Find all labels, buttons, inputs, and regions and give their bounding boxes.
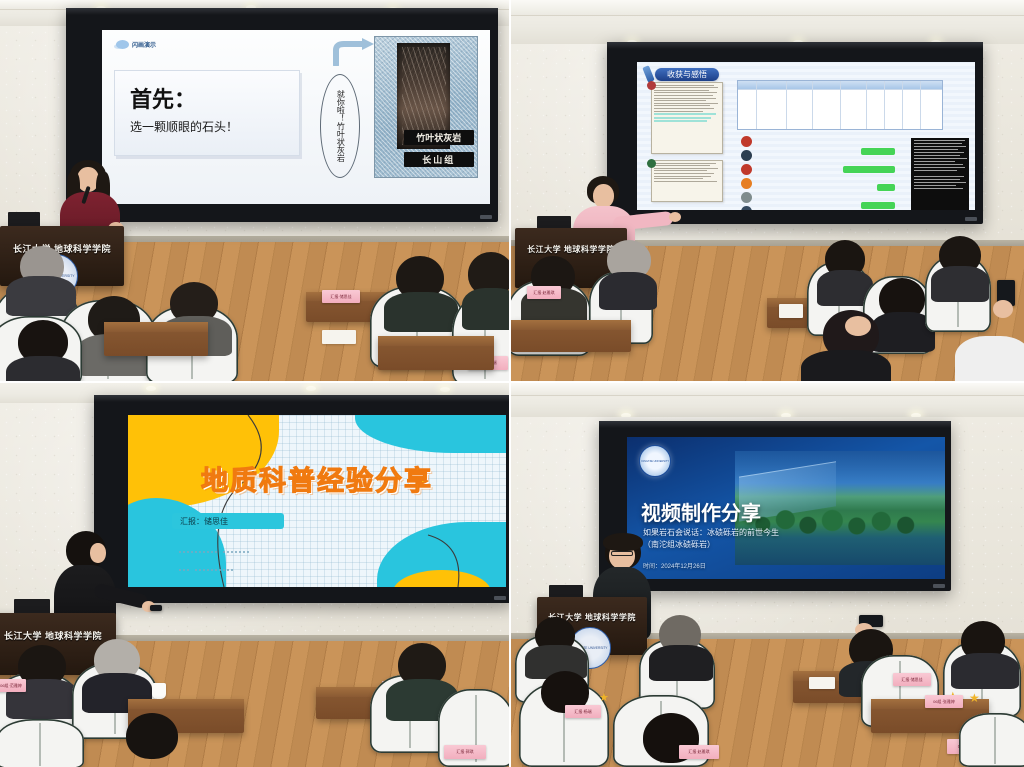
name-placard: 汇报·杨瑞 bbox=[565, 705, 601, 718]
audience-member bbox=[82, 639, 152, 703]
audience-member bbox=[462, 252, 511, 322]
slide-heading: 首先： bbox=[130, 82, 196, 114]
audience-member bbox=[525, 617, 587, 673]
lecture-room-2: 收获与感悟 bbox=[511, 0, 1024, 381]
slide-title: 地质科普经验分享 bbox=[128, 459, 506, 498]
desk bbox=[378, 336, 494, 370]
audience-member bbox=[6, 645, 80, 711]
doc-screenshot-bottom bbox=[651, 160, 723, 202]
star-trophy-icon: ★ bbox=[969, 691, 980, 705]
downlight-icon bbox=[306, 386, 316, 391]
face bbox=[90, 543, 106, 563]
slide-date: 时间：2024年12月26日 bbox=[643, 561, 706, 570]
audience-member bbox=[951, 621, 1019, 681]
hand-on-head bbox=[845, 316, 871, 336]
display-bezel-top bbox=[66, 8, 498, 15]
name-placard: 06组·张雅婷 bbox=[925, 695, 963, 708]
rock-label-primary: 竹叶状灰岩 bbox=[404, 130, 474, 145]
audience-member bbox=[649, 615, 713, 675]
name-placard: 汇报·储思佳 bbox=[893, 673, 931, 686]
projection-display-1: 闪画演示 首先： 选一颗顺眼的石头！ 就你啦！竹叶状灰岩 bbox=[66, 8, 498, 222]
clicker bbox=[150, 605, 162, 611]
slide-callout-text: 就你啦！竹叶状灰岩 bbox=[336, 90, 345, 162]
reporter-label: 汇报：储思佳 bbox=[172, 513, 284, 529]
desk bbox=[511, 320, 631, 352]
slide-title: 收获与感悟 bbox=[655, 68, 719, 81]
desk-top bbox=[378, 336, 494, 346]
display-bezel-top bbox=[607, 42, 983, 49]
torso bbox=[649, 645, 713, 681]
rock-photo: 竹叶状灰岩 长山组 bbox=[374, 36, 478, 178]
slide-subtitle-line2: （南沱组冰碛砾岩） bbox=[643, 539, 715, 550]
slide-screen-1: 闪画演示 首先： 选一颗顺眼的石头！ 就你啦！竹叶状灰岩 bbox=[102, 30, 490, 204]
slide-subtitle-line1: 如果岩石会说话：冰碛砾岩的前世今生 bbox=[643, 527, 779, 538]
display-brand-icon bbox=[965, 217, 977, 221]
panel-4-presenter-video-slide: YANGTZE UNIVERSITY 视频制作分享 如果岩石会说话：冰碛砾岩的前… bbox=[511, 383, 1024, 767]
name-placard: 汇报·郭琪 bbox=[444, 745, 486, 759]
slide-1: 闪画演示 首先： 选一颗顺眼的石头！ 就你啦！竹叶状灰岩 bbox=[102, 30, 490, 204]
downlight-icon bbox=[146, 386, 156, 391]
slide-logo: 闪画演示 bbox=[116, 40, 156, 49]
desk-top bbox=[128, 699, 244, 709]
torso bbox=[6, 276, 76, 316]
desk-top bbox=[104, 322, 208, 332]
slide-screen-4: YANGTZE UNIVERSITY 视频制作分享 如果岩石会说话：冰碛砾岩的前… bbox=[627, 437, 945, 579]
projection-display-2: 收获与感悟 bbox=[607, 42, 983, 224]
audience-member bbox=[817, 240, 873, 298]
slide-callout-oval: 就你啦！竹叶状灰岩 bbox=[320, 74, 360, 178]
display-brand-icon bbox=[933, 584, 945, 588]
doc-screenshot-top bbox=[651, 82, 723, 154]
torso bbox=[955, 336, 1024, 383]
face bbox=[593, 184, 614, 208]
chair bbox=[0, 719, 84, 767]
slide-title-group: 收获与感悟 bbox=[645, 66, 719, 82]
slide-4: YANGTZE UNIVERSITY 视频制作分享 如果岩石会说话：冰碛砾岩的前… bbox=[627, 437, 945, 579]
rock-label-formation: 长山组 bbox=[404, 152, 474, 167]
display-brand-icon bbox=[480, 215, 492, 219]
avatar bbox=[647, 159, 656, 168]
audience-member bbox=[531, 671, 603, 735]
slide-title: 视频制作分享 bbox=[641, 497, 761, 526]
avatar bbox=[741, 192, 752, 203]
name-placard: 06组·范雅婷 bbox=[0, 679, 26, 692]
desk-top bbox=[511, 320, 631, 330]
decor-dots bbox=[178, 541, 254, 577]
panel-1-presenter-rock-slide: 闪画演示 首先： 选一颗顺眼的石头！ 就你啦！竹叶状灰岩 bbox=[0, 0, 511, 383]
hair bbox=[603, 533, 643, 551]
audience-member-front bbox=[112, 713, 192, 767]
torso bbox=[801, 350, 891, 383]
torso bbox=[462, 288, 511, 330]
chair bbox=[959, 713, 1024, 767]
ceiling-strip-2 bbox=[511, 0, 1024, 16]
scenery-photo bbox=[735, 451, 945, 565]
audience-member bbox=[384, 256, 458, 326]
audience-member bbox=[6, 320, 80, 383]
torso bbox=[951, 653, 1019, 689]
slide-screen-3: 地质科普经验分享 汇报：储思佳 bbox=[128, 415, 506, 587]
torso bbox=[6, 356, 80, 383]
paper bbox=[779, 304, 803, 318]
star-trophy-icon: ★ bbox=[599, 691, 609, 704]
avatar bbox=[741, 178, 752, 189]
paper bbox=[809, 677, 835, 689]
avatar bbox=[647, 81, 656, 90]
chat-bubble bbox=[843, 166, 895, 173]
cloud-icon bbox=[116, 40, 129, 49]
avatar bbox=[741, 136, 752, 147]
chat-bubble bbox=[861, 202, 895, 209]
chat-bubble bbox=[877, 184, 895, 191]
downlight-icon bbox=[440, 387, 450, 392]
arrow-icon bbox=[332, 38, 376, 66]
paper bbox=[322, 330, 356, 344]
name-placard: 汇报·赵雅琪 bbox=[679, 745, 719, 759]
audience-member bbox=[599, 240, 657, 302]
audience-member bbox=[931, 236, 989, 296]
torso bbox=[931, 266, 989, 302]
lecture-room-4: YANGTZE UNIVERSITY 视频制作分享 如果岩石会说话：冰碛砾岩的前… bbox=[511, 383, 1024, 767]
avatar bbox=[741, 164, 752, 175]
avatar bbox=[741, 150, 752, 161]
audience-member-front bbox=[955, 316, 1024, 383]
panel-3-presenter-title-slide: 地质科普经验分享 汇报：储思佳 bbox=[0, 383, 511, 767]
slide-2: 收获与感悟 bbox=[637, 62, 975, 210]
desk bbox=[104, 322, 208, 356]
audience-member bbox=[6, 246, 76, 310]
lecture-room-1: 闪画演示 首先： 选一颗顺眼的石头！ 就你啦！竹叶状灰岩 bbox=[0, 0, 509, 381]
slide-screen-2: 收获与感悟 bbox=[637, 62, 975, 210]
lecture-room-3: 地质科普经验分享 汇报：储思佳 bbox=[0, 383, 509, 767]
chat-bubble bbox=[861, 148, 895, 155]
slide-subheading: 选一颗顺眼的石头！ bbox=[130, 118, 238, 135]
avatar bbox=[741, 206, 752, 210]
torso bbox=[599, 272, 657, 310]
display-bezel-top bbox=[94, 395, 511, 402]
panel-2-presenter-summary-slide: 收获与感悟 bbox=[511, 0, 1024, 383]
display-brand-icon bbox=[494, 596, 506, 600]
summary-table bbox=[737, 80, 943, 130]
projection-display-4: YANGTZE UNIVERSITY 视频制作分享 如果岩石会说话：冰碛砾岩的前… bbox=[599, 421, 951, 591]
hand bbox=[669, 212, 681, 222]
name-placard: 汇报·储思佳 bbox=[322, 290, 360, 303]
ceiling-strip-4 bbox=[511, 383, 1024, 396]
head bbox=[126, 713, 178, 759]
name-placard: 汇报·赵雅琪 bbox=[527, 286, 561, 299]
dark-text-panel bbox=[911, 138, 969, 210]
audience-member-front bbox=[801, 310, 891, 383]
pen-icon bbox=[642, 65, 654, 82]
display-bezel-top bbox=[599, 421, 951, 428]
slide-3: 地质科普经验分享 汇报：储思佳 bbox=[128, 415, 506, 587]
torso bbox=[384, 292, 458, 332]
paper-cup bbox=[152, 683, 166, 699]
projection-display-3: 地质科普经验分享 汇报：储思佳 bbox=[94, 395, 511, 603]
photo-collage: 闪画演示 首先： 选一颗顺眼的石头！ 就你啦！竹叶状灰岩 bbox=[0, 0, 1024, 767]
university-logo: YANGTZE UNIVERSITY bbox=[639, 445, 671, 477]
slide-logo-text: 闪画演示 bbox=[132, 40, 156, 49]
glasses-icon bbox=[611, 551, 633, 556]
